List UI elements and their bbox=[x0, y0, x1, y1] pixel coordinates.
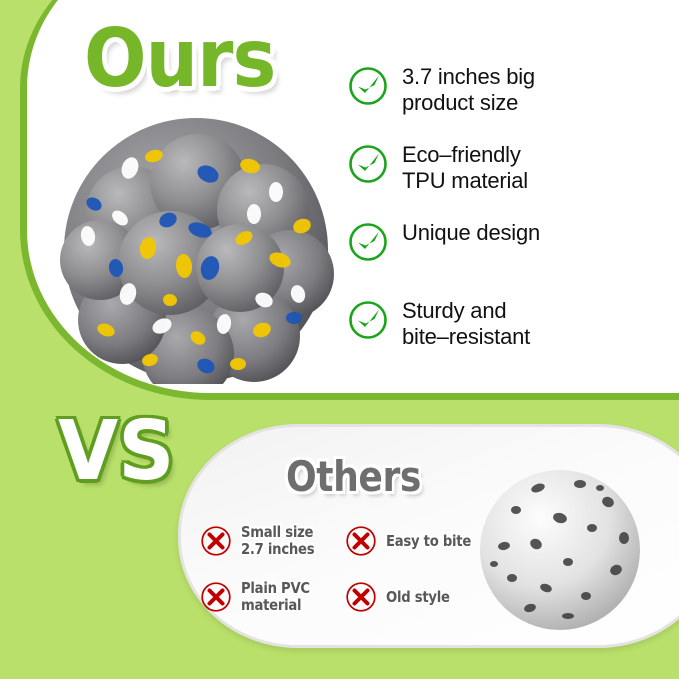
ours-product-ball-image bbox=[58, 108, 334, 384]
list-item: Eco–friendly TPU material bbox=[348, 142, 598, 204]
x-circle-icon bbox=[345, 581, 377, 613]
list-item-label: Unique design bbox=[402, 220, 540, 246]
x-circle-icon bbox=[345, 525, 377, 557]
check-circle-icon bbox=[348, 222, 388, 262]
comparison-infographic: Ours VS Others 3.7 inches big product si… bbox=[0, 0, 679, 679]
others-drawback-list: Small size 2.7 inches Easy to bite Plain… bbox=[200, 524, 500, 614]
list-item-label: Old style bbox=[386, 589, 450, 606]
list-item-label: Small size 2.7 inches bbox=[241, 524, 314, 558]
list-item: Small size 2.7 inches bbox=[200, 524, 345, 558]
list-item: Plain PVC material bbox=[200, 580, 345, 614]
list-item-label: Eco–friendly TPU material bbox=[402, 142, 528, 194]
list-item: Unique design bbox=[348, 220, 598, 282]
list-item: Old style bbox=[345, 580, 500, 614]
page-title-ours: Ours bbox=[84, 12, 275, 105]
ours-feature-list: 3.7 inches big product size Eco–friendly… bbox=[348, 64, 598, 376]
check-circle-icon bbox=[348, 144, 388, 184]
check-circle-icon bbox=[348, 66, 388, 106]
page-title-others: Others bbox=[286, 452, 421, 501]
list-item-label: Plain PVC material bbox=[241, 580, 310, 614]
x-circle-icon bbox=[200, 525, 232, 557]
list-item-label: 3.7 inches big product size bbox=[402, 64, 535, 116]
x-circle-icon bbox=[200, 581, 232, 613]
list-item: 3.7 inches big product size bbox=[348, 64, 598, 126]
list-item: Sturdy and bite–resistant bbox=[348, 298, 598, 360]
versus-badge: VS bbox=[58, 404, 174, 499]
others-product-ball-image bbox=[476, 466, 644, 634]
list-item-label: Sturdy and bite–resistant bbox=[402, 298, 530, 350]
check-circle-icon bbox=[348, 300, 388, 340]
list-item: Easy to bite bbox=[345, 524, 500, 558]
list-item-label: Easy to bite bbox=[386, 533, 471, 550]
